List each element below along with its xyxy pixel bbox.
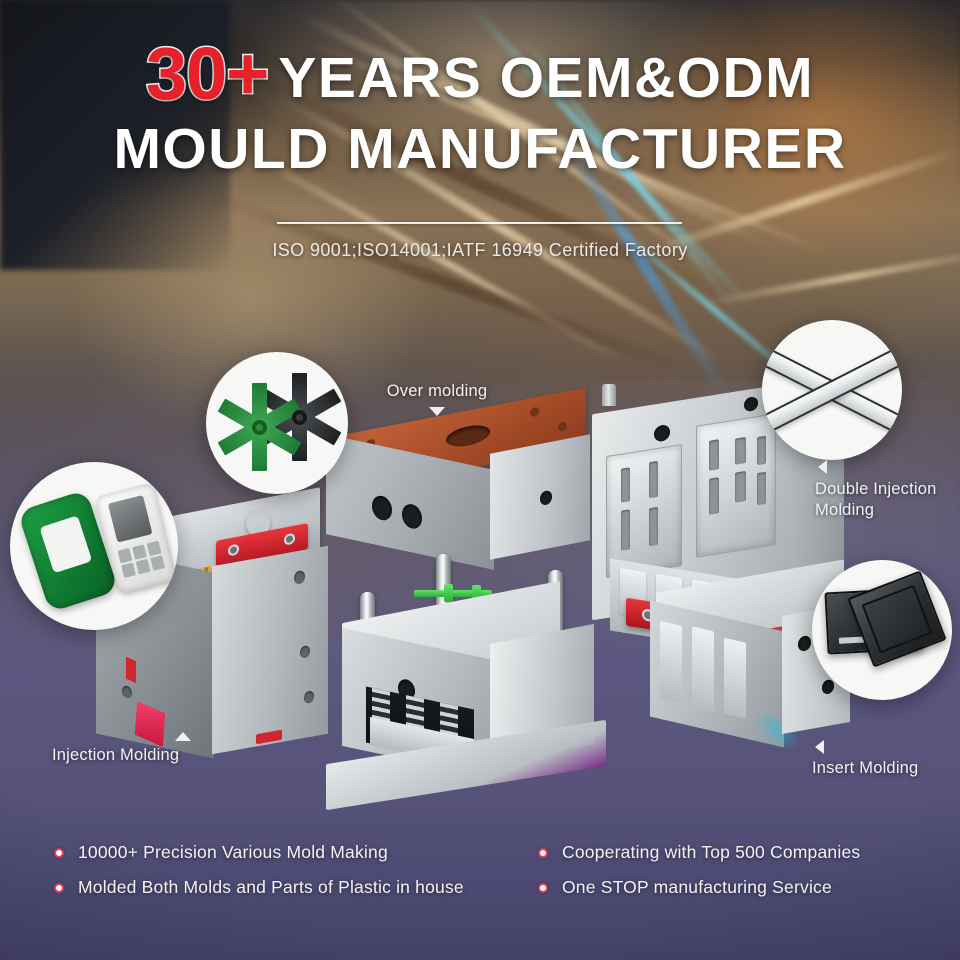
callout-insert-molding-label: Insert Molding [812, 758, 960, 779]
callout-injection-molding: Injection Molding [52, 745, 232, 766]
headline-line-2: MOULD MANUFACTURER [0, 121, 960, 178]
pointer-up-icon [175, 732, 191, 741]
callout-double-injection-line-2: Molding [815, 500, 955, 521]
bullet-marker-icon [54, 883, 64, 893]
bullet-column-left: 10000+ Precision Various Mold Making Mol… [54, 842, 464, 912]
bullet-text: 10000+ Precision Various Mold Making [78, 842, 388, 863]
bullet-text: Cooperating with Top 500 Companies [562, 842, 860, 863]
photo-bubble-black-panels [812, 560, 952, 700]
bullet-text: One STOP manufacturing Service [562, 877, 832, 898]
left-mold-right-face [212, 546, 328, 754]
photo-bubble-crossed-bars [762, 320, 902, 460]
photo-bubble-green-case [10, 462, 178, 630]
center-mold-assembly [318, 412, 618, 812]
pointer-down-icon [429, 407, 445, 416]
mould-manufacturer-banner: 30+YEARS OEM&ODM MOULD MANUFACTURER ISO … [0, 0, 960, 960]
pointer-left-icon [818, 460, 827, 474]
bullet-marker-icon [54, 848, 64, 858]
callout-injection-molding-label: Injection Molding [52, 745, 232, 766]
list-item: 10000+ Precision Various Mold Making [54, 842, 464, 863]
black-frame-part [847, 570, 946, 667]
headline-line-1: 30+YEARS OEM&ODM [0, 38, 960, 109]
years-number: 30+ [146, 32, 269, 115]
mold-post [602, 384, 616, 406]
headline-line-1-text: YEARS OEM&ODM [278, 46, 814, 110]
callout-over-molding-label: Over molding [362, 381, 512, 402]
green-impeller-part [216, 384, 302, 470]
headline-divider [277, 222, 682, 224]
list-item: Molded Both Molds and Parts of Plastic i… [54, 877, 464, 898]
callout-double-injection-line-1: Double Injection [815, 479, 955, 500]
bullet-text: Molded Both Molds and Parts of Plastic i… [78, 877, 464, 898]
headline-block: 30+YEARS OEM&ODM MOULD MANUFACTURER [0, 38, 960, 178]
mold-upper-right-face [490, 434, 590, 559]
certification-subtitle: ISO 9001;ISO14001;IATF 16949 Certified F… [0, 240, 960, 261]
photo-bubble-impellers [206, 352, 348, 494]
callout-insert-molding: Insert Molding [812, 740, 960, 779]
bullet-column-right: Cooperating with Top 500 Companies One S… [538, 842, 860, 912]
list-item: One STOP manufacturing Service [538, 877, 860, 898]
red-label-sticker [135, 701, 165, 747]
pointer-left-icon [815, 740, 824, 754]
keypad-detail [118, 541, 166, 578]
bullet-marker-icon [538, 883, 548, 893]
cavity-plate-left [606, 444, 682, 578]
callout-double-injection-molding: Double Injection Molding [815, 460, 955, 521]
list-item: Cooperating with Top 500 Companies [538, 842, 860, 863]
sprue-gate-hole [446, 422, 490, 450]
bullet-marker-icon [538, 848, 548, 858]
callout-over-molding: Over molding [362, 381, 512, 416]
